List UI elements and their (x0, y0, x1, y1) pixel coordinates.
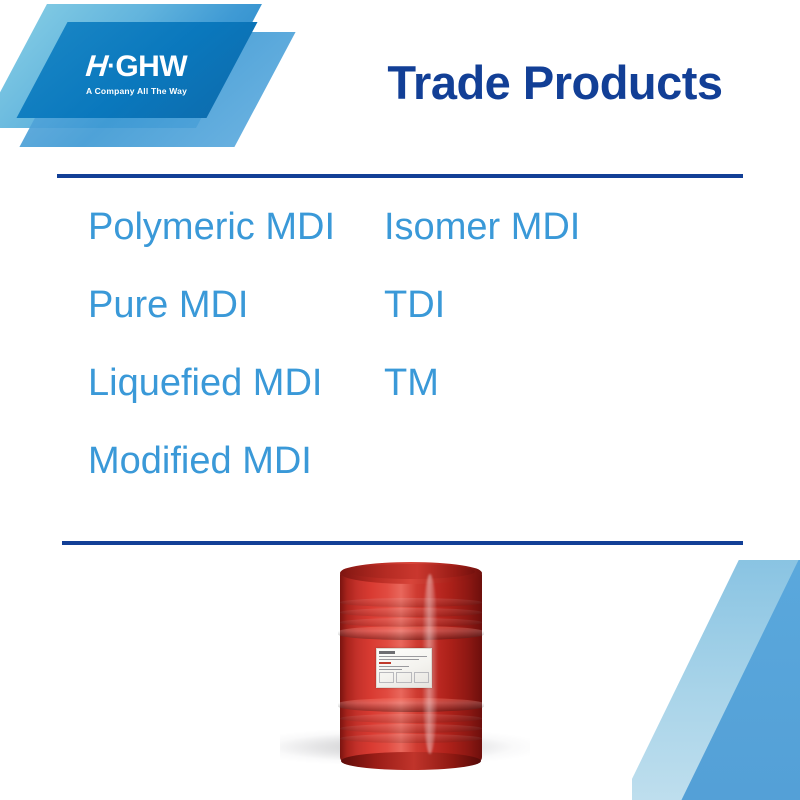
corner-decoration (632, 560, 800, 800)
drum-rib (340, 618, 482, 627)
drum-bottom-rim (341, 752, 481, 770)
logo-tagline: A Company All The Way (86, 86, 266, 96)
label-hazard-mark (379, 662, 391, 664)
company-logo[interactable]: H·GHW A Company All The Way (0, 0, 300, 160)
product-row: Liquefied MDI TM (88, 364, 708, 442)
drum-rib (340, 734, 482, 743)
drum-rib (340, 598, 482, 607)
product-item[interactable]: TDI (384, 286, 708, 324)
label-grid-cell (379, 672, 394, 683)
product-list: Polymeric MDI Isomer MDI Pure MDI TDI Li… (88, 208, 708, 520)
product-item[interactable]: TM (384, 364, 708, 402)
divider-top (57, 174, 743, 178)
drum-rib (340, 714, 482, 723)
product-item[interactable]: Modified MDI (88, 442, 384, 480)
drum-top-surface (347, 564, 475, 579)
product-item[interactable]: Liquefied MDI (88, 364, 384, 402)
product-row: Pure MDI TDI (88, 286, 708, 364)
product-item[interactable]: Polymeric MDI (88, 208, 384, 246)
label-grid-cell (396, 672, 411, 683)
drum-rib (340, 724, 482, 733)
logo-wordmark: H·GHW (86, 52, 266, 82)
label-grid-cell (414, 672, 429, 683)
corner-band-light (632, 560, 800, 800)
logo-letters-ghw: GHW (115, 50, 187, 83)
logo-letter-h: H (84, 52, 108, 82)
product-row: Polymeric MDI Isomer MDI (88, 208, 708, 286)
product-item[interactable]: Pure MDI (88, 286, 384, 324)
drum-rib (340, 608, 482, 617)
product-row: Modified MDI (88, 442, 708, 520)
page-title: Trade Products (340, 57, 770, 109)
product-drum-image (330, 562, 490, 792)
drum-hoop-upper (338, 626, 484, 640)
divider-bottom (62, 541, 743, 545)
label-text-line (379, 666, 409, 667)
label-text-line (379, 669, 402, 670)
drum-hoop-lower (338, 698, 484, 712)
label-text-line (379, 659, 419, 660)
label-data-grid (379, 672, 429, 683)
label-brand-mark (379, 651, 395, 654)
drum-product-label (376, 648, 432, 688)
product-item[interactable]: Isomer MDI (384, 208, 708, 246)
trade-products-banner: H·GHW A Company All The Way Trade Produc… (0, 0, 800, 800)
logo-text-group: H·GHW A Company All The Way (86, 52, 266, 112)
corner-band-dark (667, 560, 800, 800)
label-text-line (379, 656, 427, 657)
